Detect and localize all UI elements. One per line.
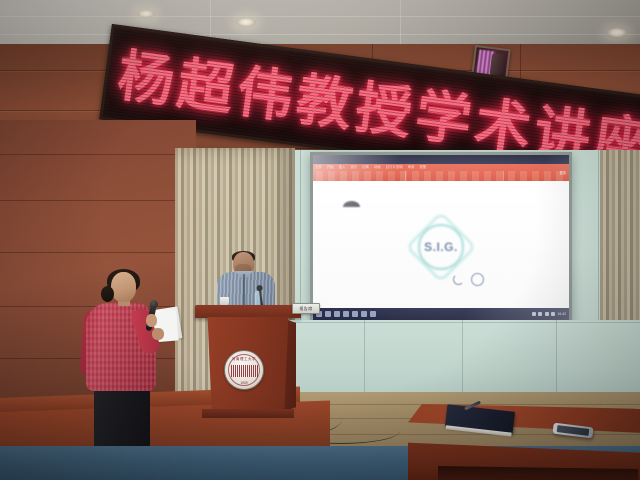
slide-canvas[interactable]: S.I.G. bbox=[313, 181, 569, 308]
tray-battery-icon[interactable] bbox=[551, 312, 555, 316]
ceiling-downlight bbox=[137, 10, 155, 18]
taskbar-window-icon[interactable] bbox=[370, 311, 376, 317]
host-head bbox=[111, 272, 136, 302]
podium-nameplate: 报告席 bbox=[292, 303, 320, 314]
emblem-top-text: 河南理工大学 bbox=[232, 356, 256, 361]
tray-input-icon[interactable] bbox=[545, 312, 549, 316]
ribbon-signin-label[interactable]: 登录 bbox=[560, 171, 566, 176]
ribbon-tab[interactable]: 视图 bbox=[419, 164, 426, 170]
taskbar-clock: 16:42 bbox=[558, 312, 567, 317]
app-titlebar bbox=[313, 155, 569, 164]
foreground-table bbox=[408, 404, 640, 480]
phone-screen[interactable] bbox=[557, 425, 590, 437]
projected-desktop[interactable]: 文件 开始 插入 设计 切换 动画 幻灯片放映 审阅 视图 登录 bbox=[313, 155, 569, 321]
slide-logo-text: S.I.G. bbox=[424, 240, 458, 254]
tray-volume-icon[interactable] bbox=[538, 312, 542, 316]
ribbon-tab[interactable]: 切换 bbox=[362, 164, 369, 170]
app-ribbon: 文件 开始 插入 设计 切换 动画 幻灯片放映 审阅 视图 登录 bbox=[313, 164, 569, 181]
podium-top bbox=[195, 305, 301, 318]
taskbar-mail-icon[interactable] bbox=[352, 311, 358, 317]
ribbon-command-groups[interactable] bbox=[316, 171, 566, 181]
ribbon-tab[interactable]: 审阅 bbox=[408, 164, 415, 170]
podium-nameplate-text: 报告席 bbox=[299, 306, 312, 312]
table-top bbox=[408, 404, 640, 444]
host-left-hand bbox=[152, 328, 164, 340]
ceiling-downlight bbox=[236, 18, 256, 27]
ribbon-tabs[interactable]: 文件 开始 插入 设计 切换 动画 幻灯片放映 审阅 视图 bbox=[315, 164, 426, 170]
ribbon-tab[interactable]: 开始 bbox=[327, 164, 334, 170]
ceiling-downlight bbox=[606, 28, 628, 38]
host-hair-bun bbox=[101, 286, 114, 302]
ribbon-tab[interactable]: 插入 bbox=[339, 164, 346, 170]
slide-logo: S.I.G. bbox=[410, 216, 472, 278]
ribbon-tab[interactable]: 文件 bbox=[315, 164, 322, 170]
taskbar-browser-icon[interactable] bbox=[343, 311, 349, 317]
slide-shape bbox=[343, 201, 360, 207]
ribbon-tab[interactable]: 幻灯片放映 bbox=[386, 164, 403, 170]
taskbar-system-tray[interactable]: 16:42 bbox=[532, 312, 567, 317]
lecture-hall-photo: 杨超伟教授学术讲座：新一代地理信息科学 文件 开始 插入 设计 切换 动画 bbox=[0, 0, 640, 480]
taskbar-search-icon[interactable] bbox=[325, 311, 331, 317]
emblem-building-icon bbox=[231, 365, 259, 377]
podium-base bbox=[202, 409, 294, 418]
taskbar-app-icons[interactable] bbox=[316, 311, 376, 317]
taskbar-folder-icon[interactable] bbox=[334, 311, 340, 317]
host-figure bbox=[80, 272, 176, 472]
projection-screen: 文件 开始 插入 设计 切换 动画 幻灯片放映 审阅 视图 登录 bbox=[310, 152, 572, 324]
host-right-hand bbox=[146, 314, 157, 327]
podium: 河南理工大学 1909 报告席 bbox=[200, 305, 296, 417]
ribbon-tab[interactable]: 动画 bbox=[374, 164, 381, 170]
taskbar-powerpoint-icon[interactable] bbox=[361, 311, 367, 317]
tray-network-icon[interactable] bbox=[532, 312, 536, 316]
slide-circle-mark bbox=[471, 273, 484, 286]
ribbon-tab[interactable]: 设计 bbox=[350, 164, 357, 170]
emblem-year: 1909 bbox=[240, 381, 247, 385]
university-emblem: 河南理工大学 1909 bbox=[224, 350, 264, 390]
